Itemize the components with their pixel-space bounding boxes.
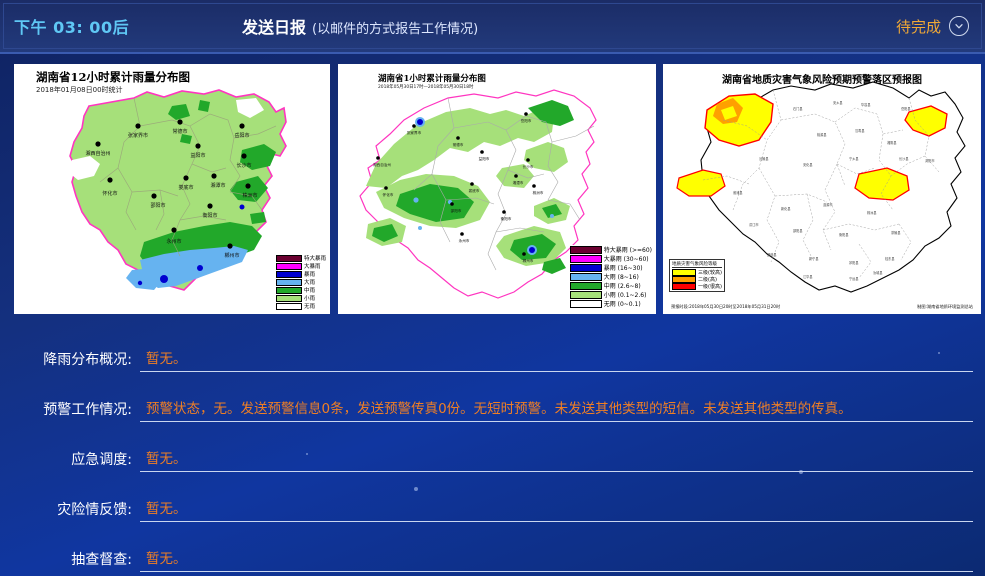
legend-label: 大暴雨 (30~60)	[604, 254, 649, 263]
svg-text:湘西自治州: 湘西自治州	[373, 162, 391, 167]
legend-swatch	[276, 279, 302, 286]
svg-text:益阳市: 益阳市	[479, 156, 490, 161]
svg-text:安乡县: 安乡县	[833, 100, 843, 105]
legend-row: 暴雨 (16~30)	[570, 263, 652, 272]
svg-text:岳阳市: 岳阳市	[234, 132, 249, 139]
legend-row: 无雨	[276, 302, 326, 310]
svg-text:浏阳市: 浏阳市	[925, 158, 935, 163]
field-label: 应急调度:	[0, 449, 140, 469]
legend-label: 大暴雨	[304, 262, 321, 270]
svg-text:郴州市: 郴州市	[224, 252, 239, 259]
map-footer-left: 预报时段:2018年05月30日20时至2018年05月31日20时	[671, 304, 780, 310]
svg-text:益阳市: 益阳市	[190, 152, 205, 159]
field-value: 暂无。	[146, 497, 187, 517]
status-badge: 待完成	[896, 16, 941, 37]
svg-text:衡阳市: 衡阳市	[501, 216, 512, 221]
legend-row: 中雨	[276, 286, 326, 294]
svg-text:沅陵县: 沅陵县	[759, 156, 769, 161]
legend-swatch	[570, 246, 602, 254]
svg-text:宁乡县: 宁乡县	[849, 156, 859, 161]
legend-row: 二级(高)	[672, 276, 722, 283]
map-legend-rain-12h: 特大暴雨大暴雨暴雨大雨中雨小雨无雨	[276, 254, 326, 310]
legend-row: 小雨	[276, 294, 326, 302]
map-legend-geo-hazard: 地质灾害气象风险等级 三级(较高)二级(高)一级(很高)	[669, 259, 725, 292]
svg-text:洪江市: 洪江市	[749, 222, 759, 227]
svg-text:长沙县: 长沙县	[899, 156, 909, 161]
svg-text:涟源市: 涟源市	[823, 202, 833, 207]
svg-text:邵阳县: 邵阳县	[793, 228, 803, 233]
legend-row: 暴雨	[276, 270, 326, 278]
svg-text:石门县: 石门县	[793, 106, 803, 111]
svg-text:湘潭市: 湘潭市	[513, 180, 524, 185]
legend-label: 三级(较高)	[698, 269, 722, 276]
svg-text:新宁县: 新宁县	[809, 256, 819, 261]
map-panel-geo-hazard[interactable]: 湖南省地质灾害气象风险预期预警落区预报图	[663, 64, 981, 314]
legend-swatch	[570, 300, 602, 308]
field-input-warning-work[interactable]: 预警状态，无。发送预警信息0条，发送预警传真0份。无短时预警。未发送其他类型的短…	[140, 396, 973, 422]
legend-row: 大暴雨	[276, 262, 326, 270]
legend-swatch	[570, 255, 602, 263]
form-field-rain-distribution: 降雨分布概况: 暂无。	[0, 342, 985, 376]
legend-row: 大雨	[276, 278, 326, 286]
task-time-label: 下午 03: 00后	[14, 14, 129, 38]
legend-label: 无雨 (0~0.1)	[604, 299, 641, 308]
svg-text:娄底市: 娄底市	[469, 188, 480, 193]
svg-text:衡阳县: 衡阳县	[839, 232, 849, 237]
map-footer-right: 制图:湖南省地质环境监测总站	[917, 304, 973, 310]
form-field-spot-inspection: 抽查督查: 暂无。	[0, 542, 985, 576]
svg-text:宁远县: 宁远县	[849, 276, 859, 281]
legend-row: 三级(较高)	[672, 269, 722, 276]
legend-label: 大雨	[304, 278, 315, 286]
map-panel-rain-12h[interactable]: 湖南省12小时累计雨量分布图 2018年01月08日00时统计	[14, 64, 330, 314]
legend-row: 小雨 (0.1~2.6)	[570, 290, 652, 299]
svg-text:怀化市: 怀化市	[383, 192, 394, 197]
field-value: 暂无。	[146, 347, 187, 367]
svg-text:邵阳市: 邵阳市	[150, 202, 165, 209]
svg-text:湘西自治州: 湘西自治州	[85, 150, 110, 157]
svg-text:岳阳县: 岳阳县	[901, 106, 911, 111]
field-input-spot-inspection[interactable]: 暂无。	[140, 546, 973, 572]
legend-label: 特大暴雨 (>=60)	[604, 245, 652, 254]
svg-text:长沙市: 长沙市	[523, 164, 534, 169]
legend-row: 大雨 (8~16)	[570, 272, 652, 281]
legend-title: 地质灾害气象风险等级	[672, 261, 722, 268]
legend-label: 无雨	[304, 302, 315, 310]
legend-swatch	[276, 295, 302, 302]
svg-text:怀化市: 怀化市	[102, 190, 117, 197]
legend-row: 中雨 (2.6~8)	[570, 281, 652, 290]
svg-text:永州市: 永州市	[166, 238, 181, 245]
svg-text:常德市: 常德市	[172, 128, 187, 135]
svg-text:通道县: 通道县	[767, 252, 777, 257]
task-title-group: 发送日报 (以邮件的方式报告工作情况)	[242, 14, 478, 38]
svg-text:邵阳市: 邵阳市	[451, 208, 462, 213]
map-legend-rain-1h: 特大暴雨 (>=60)大暴雨 (30~60)暴雨 (16~30)大雨 (8~16…	[570, 245, 652, 308]
svg-text:岳阳市: 岳阳市	[521, 118, 532, 123]
legend-label: 二级(高)	[698, 276, 717, 283]
svg-text:娄底市: 娄底市	[178, 184, 193, 191]
svg-text:桂东县: 桂东县	[885, 256, 895, 261]
svg-text:安化县: 安化县	[803, 162, 813, 167]
svg-text:常德市: 常德市	[453, 142, 464, 147]
legend-label: 暴雨 (16~30)	[604, 263, 643, 272]
legend-swatch	[570, 291, 602, 299]
legend-swatch	[672, 269, 696, 276]
svg-text:桃源县: 桃源县	[817, 132, 827, 137]
field-label: 灾险情反馈:	[0, 499, 140, 519]
legend-row: 一级(很高)	[672, 283, 722, 290]
svg-text:茶陵县: 茶陵县	[891, 230, 901, 235]
legend-row: 大暴雨 (30~60)	[570, 254, 652, 263]
legend-swatch	[570, 282, 602, 290]
field-input-disaster-feedback[interactable]: 暂无。	[140, 496, 973, 522]
legend-swatch	[570, 264, 602, 272]
legend-swatch	[276, 271, 302, 278]
legend-row: 无雨 (0~0.1)	[570, 299, 652, 308]
daily-report-form: 降雨分布概况: 暂无。 预警工作情况: 预警状态，无。发送预警信息0条，发送预警…	[0, 320, 985, 576]
map-gallery: 湖南省12小时累计雨量分布图 2018年01月08日00时统计	[0, 64, 985, 314]
legend-swatch	[672, 276, 696, 283]
task-header-bar: 下午 03: 00后 发送日报 (以邮件的方式报告工作情况) 待完成	[0, 0, 985, 54]
form-field-disaster-feedback: 灾险情反馈: 暂无。	[0, 492, 985, 526]
legend-label: 小雨 (0.1~2.6)	[604, 290, 647, 299]
field-input-emergency-dispatch[interactable]: 暂无。	[140, 446, 973, 472]
legend-label: 大雨 (8~16)	[604, 272, 639, 281]
svg-text:长沙市: 长沙市	[236, 162, 251, 169]
task-subtitle: (以邮件的方式报告工作情况)	[312, 18, 478, 37]
svg-text:株洲县: 株洲县	[867, 210, 877, 215]
svg-text:江华县: 江华县	[803, 274, 813, 279]
legend-swatch	[276, 303, 302, 310]
field-label: 抽查督查:	[0, 549, 140, 569]
svg-text:新化县: 新化县	[781, 206, 791, 211]
svg-text:祁阳县: 祁阳县	[849, 260, 859, 265]
svg-text:张家界市: 张家界市	[407, 130, 422, 135]
legend-label: 小雨	[304, 294, 315, 302]
legend-swatch	[276, 263, 302, 270]
legend-swatch	[672, 283, 696, 290]
legend-label: 中雨 (2.6~8)	[604, 281, 641, 290]
field-value: 预警状态，无。发送预警信息0条，发送预警传真0份。无短时预警。未发送其他类型的短…	[146, 397, 852, 417]
legend-swatch	[276, 255, 302, 262]
task-status-group[interactable]: 待完成	[896, 16, 969, 37]
svg-text:汉寿县: 汉寿县	[855, 128, 865, 133]
svg-text:株洲市: 株洲市	[242, 192, 257, 199]
legend-row: 特大暴雨 (>=60)	[570, 245, 652, 254]
legend-label: 暴雨	[304, 270, 315, 278]
legend-label: 中雨	[304, 286, 315, 294]
svg-text:湘阴县: 湘阴县	[887, 140, 897, 145]
svg-text:汝城县: 汝城县	[873, 270, 883, 275]
form-field-warning-work: 预警工作情况: 预警状态，无。发送预警信息0条，发送预警传真0份。无短时预警。未…	[0, 392, 985, 426]
task-title: 发送日报	[242, 14, 306, 38]
field-label: 预警工作情况:	[0, 399, 140, 419]
svg-text:郴州市: 郴州市	[523, 258, 534, 263]
chevron-down-circle-icon[interactable]	[949, 16, 969, 36]
svg-text:湘潭市: 湘潭市	[210, 182, 225, 189]
map-panel-rain-1h[interactable]: 湖南省1小时累计雨量分布图 2018年05月30日17时—2018年05月30日…	[338, 64, 656, 314]
svg-text:衡阳市: 衡阳市	[202, 212, 217, 219]
legend-swatch	[570, 273, 602, 281]
field-value: 暂无。	[146, 447, 187, 467]
field-value: 暂无。	[146, 547, 187, 567]
legend-label: 一级(很高)	[698, 283, 722, 290]
legend-row: 特大暴雨	[276, 254, 326, 262]
svg-text:溆浦县: 溆浦县	[733, 190, 743, 195]
form-field-emergency-dispatch: 应急调度: 暂无。	[0, 442, 985, 476]
svg-text:张家界市: 张家界市	[128, 132, 148, 139]
legend-swatch	[276, 287, 302, 294]
field-input-rain-distribution[interactable]: 暂无。	[140, 346, 973, 372]
legend-label: 特大暴雨	[304, 254, 326, 262]
svg-text:华容县: 华容县	[861, 102, 871, 107]
svg-text:株洲市: 株洲市	[533, 190, 544, 195]
field-label: 降雨分布概况:	[0, 349, 140, 369]
svg-text:永州市: 永州市	[459, 238, 470, 243]
